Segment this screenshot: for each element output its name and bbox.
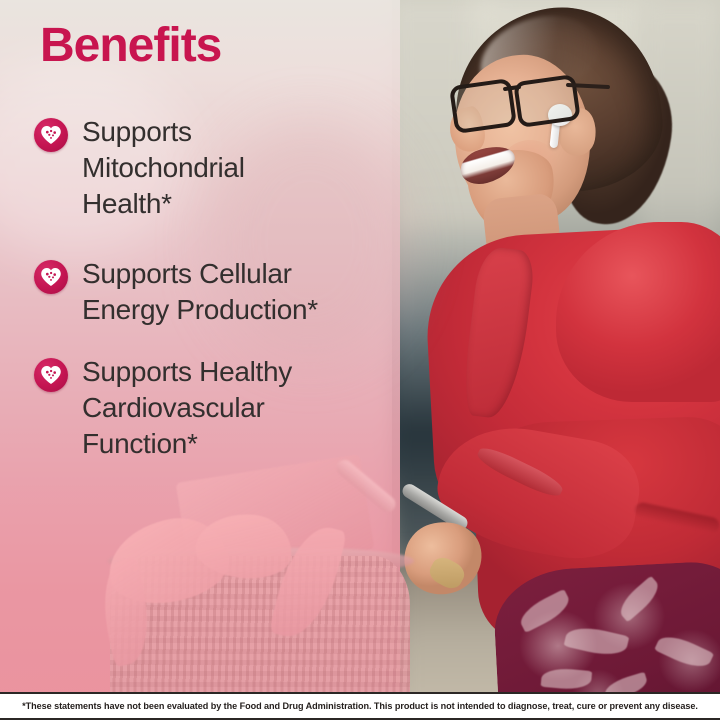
benefit-label: Supports Healthy Cardiovascular Function… (82, 354, 292, 461)
trousers-floral-motif (516, 589, 574, 633)
eyeglasses-right-lens (513, 74, 581, 128)
benefit-item-1: Supports Mitochondrial Health* (34, 114, 384, 221)
trousers-floral-motif (615, 576, 664, 623)
benefit-label: Supports Mitochondrial Health* (82, 114, 245, 221)
product-benefits-banner: Benefits Supports Mitochondrial Health* (0, 0, 720, 720)
trousers-floral-motif (654, 630, 714, 674)
benefit-item-3: Supports Healthy Cardiovascular Function… (34, 354, 384, 461)
benefit-item-2: Supports Cellular Energy Production* (34, 256, 384, 328)
fda-disclaimer-bar: *These statements have not been evaluate… (0, 692, 720, 720)
trousers-floral-motif (541, 667, 593, 691)
benefit-label: Supports Cellular Energy Production* (82, 256, 318, 328)
benefits-content: Benefits Supports Mitochondrial Health* (0, 0, 400, 720)
fda-disclaimer-text: *These statements have not been evaluate… (4, 701, 717, 711)
heart-cells-icon (34, 260, 68, 294)
page-title: Benefits (40, 22, 221, 70)
trousers-floral-motif (564, 623, 630, 660)
heart-cells-icon (34, 118, 68, 152)
heart-cells-icon (34, 358, 68, 392)
